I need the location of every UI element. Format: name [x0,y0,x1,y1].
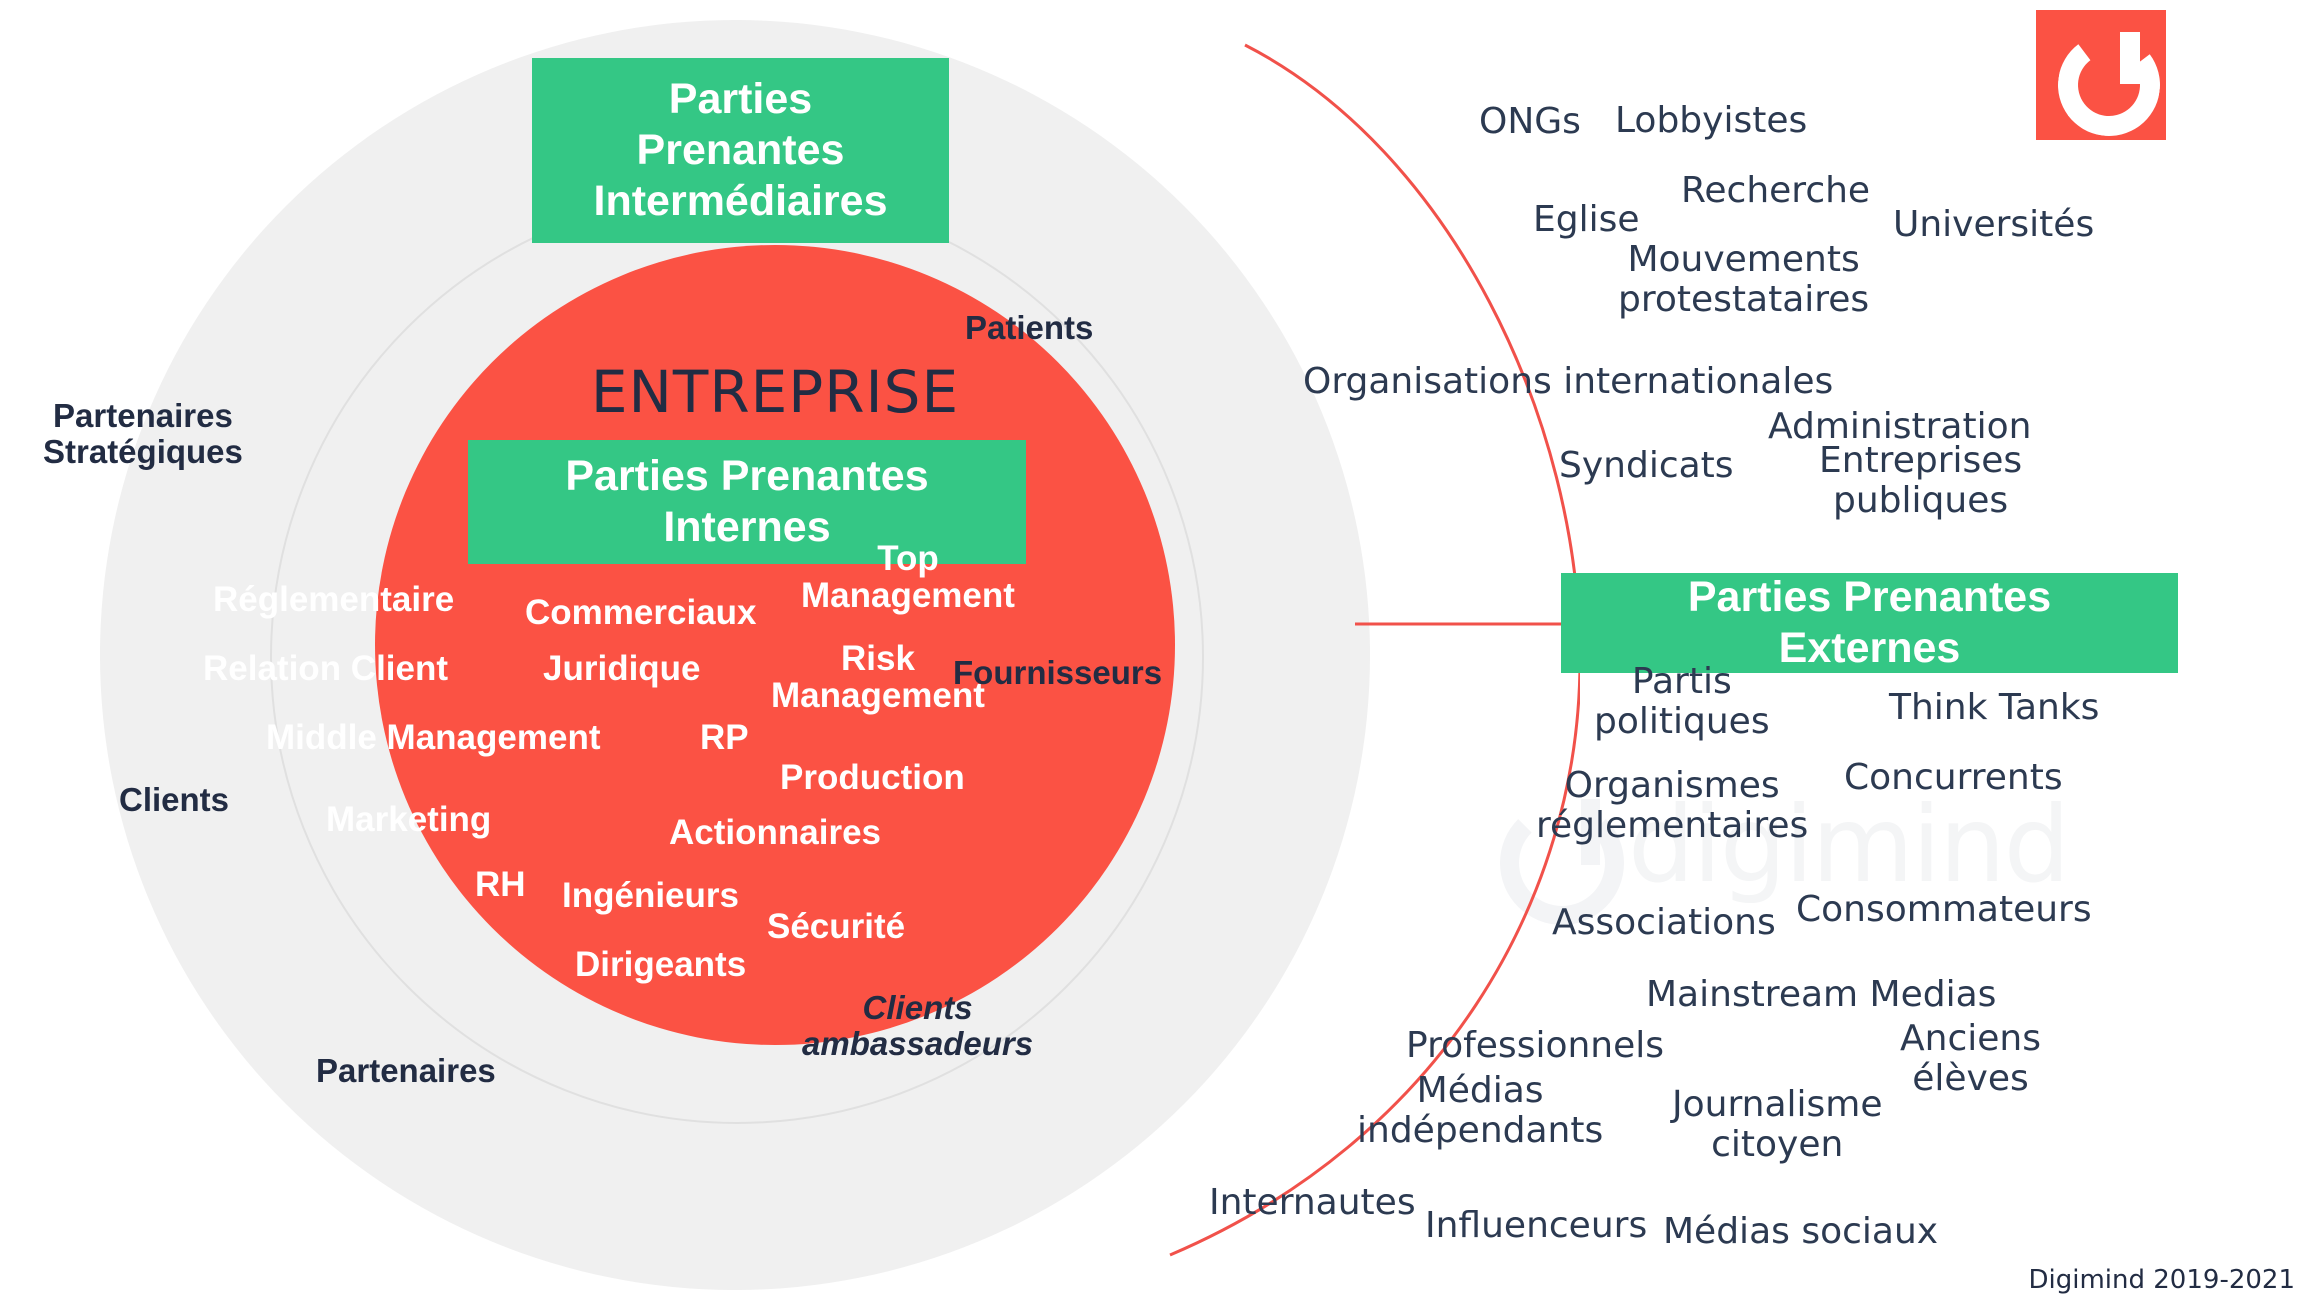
page-title: ENTREPRISE [375,358,1175,426]
external-stakeholder: Think Tanks [1889,688,2099,728]
external-stakeholder: Eglise [1533,200,1640,240]
external-stakeholder: Internautes [1209,1183,1416,1223]
internal-stakeholder: Relation Client [203,651,448,688]
internal-stakeholder: Commerciaux [525,595,756,632]
label-parties-prenantes-externes: Parties Prenantes Externes [1561,573,2178,673]
copyright-text: Digimind 2019-2021 [2029,1265,2296,1295]
external-stakeholder: Anciens élèves [1900,1019,2041,1100]
external-stakeholder: Universités [1893,205,2094,245]
intermediary-stakeholder: Partenaires Stratégiques [43,398,243,471]
diagram-canvas: digimind ENTREPRISE Parties Prenantes In… [0,0,2311,1303]
label-parties-prenantes-intermediaires: Parties Prenantes Intermédiaires [532,58,949,243]
external-stakeholder: Journalisme citoyen [1672,1085,1882,1166]
external-stakeholder: Professionnels [1406,1026,1664,1066]
external-stakeholder: Médias indépendants [1357,1071,1603,1152]
internal-stakeholder: Ingénieurs [562,878,739,915]
intermediary-stakeholder: Partenaires [316,1053,496,1089]
external-stakeholder: Syndicats [1559,446,1734,486]
internal-stakeholder: Juridique [543,651,701,688]
internal-stakeholder: RH [475,867,526,904]
intermediary-stakeholder: Clients ambassadeurs [802,990,1033,1063]
external-stakeholder: Partis politiques [1594,662,1770,743]
internal-stakeholder: RP [700,720,749,757]
intermediary-stakeholder: Patients [965,310,1093,346]
external-stakeholder: Lobbyistes [1615,101,1807,141]
external-stakeholder: ONGs [1479,102,1581,142]
external-stakeholder: Consommateurs [1796,890,2092,930]
external-stakeholder: Influenceurs [1425,1206,1647,1246]
external-stakeholder: Organismes réglementaires [1536,766,1808,847]
internal-stakeholder: Actionnaires [669,815,881,852]
external-stakeholder: Médias sociaux [1663,1212,1938,1252]
intermediary-stakeholder: Fournisseurs [953,655,1162,691]
external-stakeholder: Entreprises publiques [1819,441,2022,522]
internal-stakeholder: Middle Management [266,720,600,757]
intermediary-stakeholder: Clients [119,782,229,818]
external-stakeholder: Recherche [1681,171,1870,211]
external-stakeholder: Organisations internationales [1303,362,1833,402]
internal-stakeholder: Top Management [801,541,1015,615]
internal-stakeholder: Sécurité [767,909,905,946]
internal-stakeholder: Marketing [326,802,491,839]
internal-stakeholder: Production [780,760,965,797]
digimind-logo-icon [2036,10,2166,140]
external-stakeholder: Concurrents [1844,758,2063,798]
external-stakeholder: Mainstream Medias [1646,975,1996,1015]
external-stakeholder: Mouvements protestataires [1618,240,1869,321]
internal-stakeholder: Dirigeants [575,947,746,984]
internal-stakeholder: Réglementaire [213,582,454,619]
external-stakeholder: Associations [1552,903,1776,943]
